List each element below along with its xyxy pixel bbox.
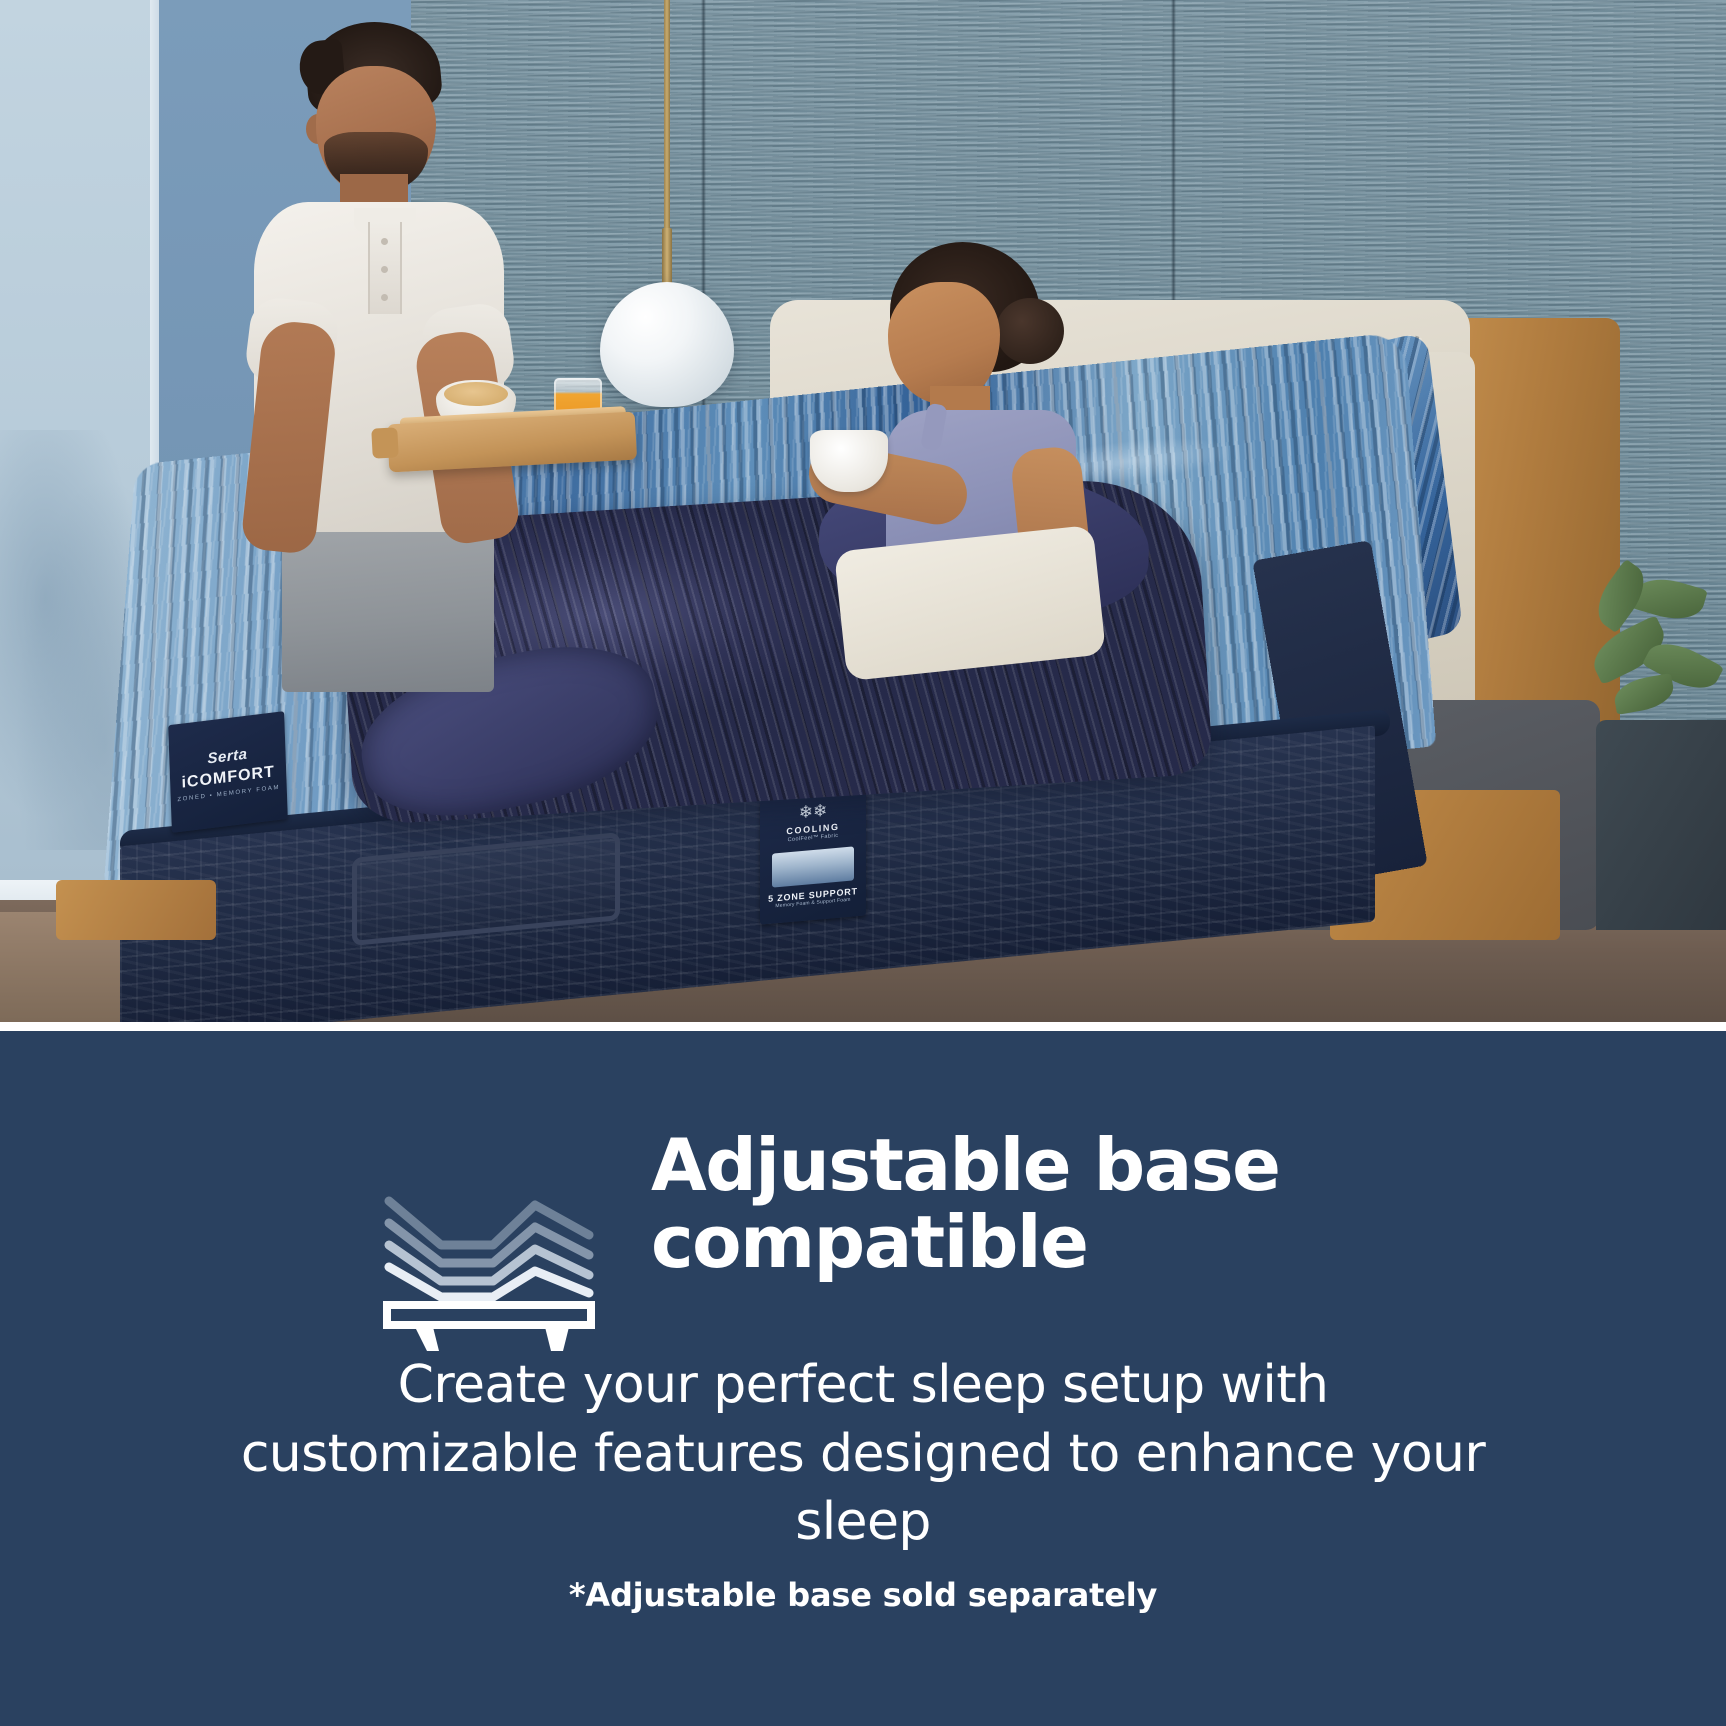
shirt-button <box>381 238 388 245</box>
bed-sheet <box>834 525 1106 681</box>
woman-in-bed <box>880 238 1180 568</box>
serta-brand-label: Serta iCOMFORT ZONED • MEMORY FOAM <box>168 711 288 833</box>
woman-hair-bun <box>996 298 1064 364</box>
pendant-cord <box>664 0 670 236</box>
feature-panel: Adjustable base compatible Create your p… <box>0 1031 1726 1726</box>
man-with-tray <box>228 22 558 682</box>
shirt-button <box>381 294 388 301</box>
panel-subcopy: Create your perfect sleep setup with cus… <box>238 1351 1488 1557</box>
tray-handle <box>371 427 399 458</box>
pendant-lamp-icon <box>600 282 734 407</box>
headline-row: Adjustable base compatible <box>0 1127 1726 1351</box>
bowl-contents <box>444 382 508 406</box>
panel-footnote: *Adjustable base sold separately <box>163 1576 1563 1614</box>
snowflake-icon: ❄❄ <box>799 802 828 821</box>
photo-panel-divider <box>0 1022 1726 1031</box>
shirt-button <box>381 266 388 273</box>
bed-frame-left <box>56 880 216 940</box>
pendant-rod <box>662 228 672 288</box>
promo-page: Serta iCOMFORT ZONED • MEMORY FOAM ❄❄ CO… <box>0 0 1726 1726</box>
plant-icon <box>1580 560 1726 740</box>
serta-wordmark: Serta <box>207 745 248 767</box>
mattress-cross-section-icon <box>772 846 854 887</box>
cooling-feature-label: ❄❄ COOLING CoolFeel™ Fabric 5 ZONE SUPPO… <box>760 790 866 924</box>
adjustable-base-icon <box>375 1183 607 1351</box>
panel-headline: Adjustable base compatible <box>651 1127 1351 1281</box>
nightstand <box>1596 720 1726 930</box>
lifestyle-photo: Serta iCOMFORT ZONED • MEMORY FOAM ❄❄ CO… <box>0 0 1726 1022</box>
coffee-mug-icon <box>810 430 888 492</box>
